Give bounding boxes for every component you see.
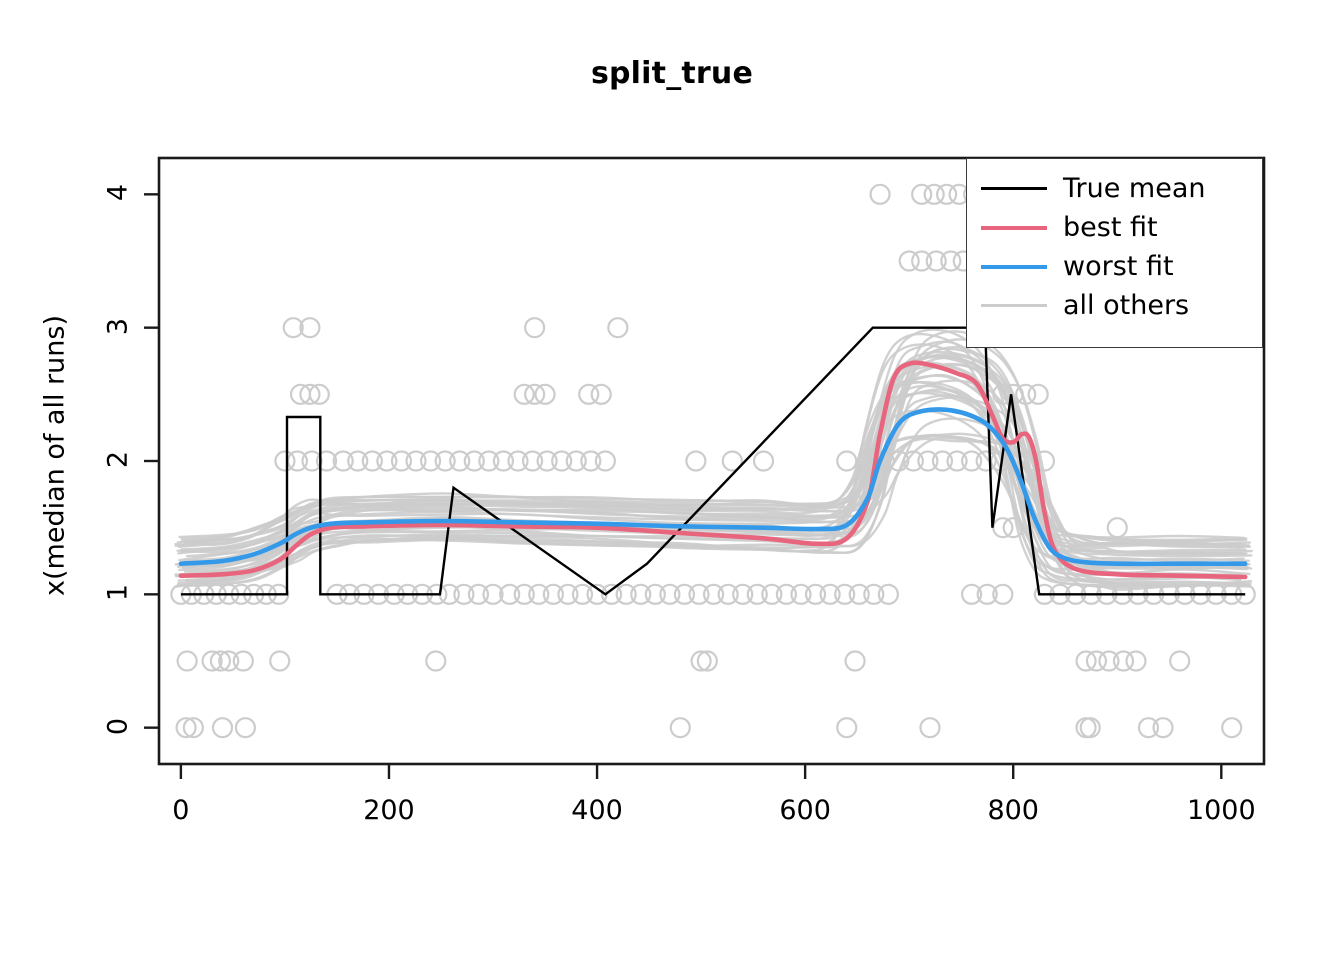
scatter-point bbox=[671, 718, 690, 737]
scatter-point bbox=[596, 452, 615, 471]
scatter-point bbox=[837, 452, 856, 471]
chart-figure: split_true x(median of all runs) 01234 0… bbox=[0, 0, 1344, 960]
scatter-point bbox=[592, 385, 611, 404]
scatter-point bbox=[846, 652, 865, 671]
scatter-point bbox=[234, 652, 253, 671]
x-tick-label: 400 bbox=[537, 795, 657, 826]
y-tick-label: 0 bbox=[103, 706, 134, 746]
scatter-point bbox=[1081, 718, 1100, 737]
y-tick-label: 3 bbox=[103, 306, 134, 346]
legend-swatch-all-others bbox=[981, 304, 1047, 307]
scatter-point bbox=[270, 652, 289, 671]
scatter-point bbox=[686, 452, 705, 471]
legend-swatch-worst-fit bbox=[981, 265, 1047, 269]
x-tick-label: 1000 bbox=[1161, 795, 1281, 826]
y-tick-label: 1 bbox=[103, 573, 134, 613]
y-axis-label: x(median of all runs) bbox=[40, 156, 71, 756]
scatter-point bbox=[920, 718, 939, 737]
legend-item-true-mean: True mean bbox=[967, 169, 1262, 208]
scatter-point bbox=[1154, 718, 1173, 737]
scatter-point bbox=[525, 318, 544, 337]
scatter-point bbox=[1108, 518, 1127, 537]
scatter-point bbox=[236, 718, 255, 737]
legend-item-worst-fit: worst fit bbox=[967, 247, 1262, 286]
scatter-point bbox=[871, 185, 890, 204]
page-title: split_true bbox=[0, 56, 1344, 91]
scatter-point bbox=[879, 585, 898, 604]
legend-label-all-others: all others bbox=[1063, 292, 1189, 319]
legend-swatch-true-mean bbox=[981, 187, 1047, 190]
x-tick-label: 0 bbox=[121, 795, 241, 826]
y-tick-label: 4 bbox=[103, 173, 134, 213]
x-tick-label: 800 bbox=[953, 795, 1073, 826]
scatter-point bbox=[1170, 652, 1189, 671]
scatter-point bbox=[1077, 718, 1096, 737]
legend-label-worst-fit: worst fit bbox=[1063, 253, 1174, 280]
scatter-point bbox=[426, 652, 445, 671]
scatter-point bbox=[211, 652, 230, 671]
scatter-point bbox=[837, 718, 856, 737]
legend-item-all-others: all others bbox=[967, 286, 1262, 325]
scatter-point bbox=[1222, 718, 1241, 737]
scatter-point bbox=[608, 318, 627, 337]
x-tick-label: 600 bbox=[745, 795, 865, 826]
legend-label-best-fit: best fit bbox=[1063, 214, 1158, 241]
legend-item-best-fit: best fit bbox=[967, 208, 1262, 247]
scatter-point bbox=[1126, 652, 1145, 671]
legend[interactable]: True mean best fit worst fit all others bbox=[966, 158, 1263, 348]
scatter-point bbox=[754, 452, 773, 471]
x-tick-label: 200 bbox=[329, 795, 449, 826]
y-tick-label: 2 bbox=[103, 440, 134, 480]
scatter-point bbox=[213, 718, 232, 737]
legend-swatch-best-fit bbox=[981, 226, 1047, 230]
scatter-point bbox=[1029, 385, 1048, 404]
legend-label-true-mean: True mean bbox=[1063, 175, 1206, 202]
scatter-point bbox=[178, 652, 197, 671]
